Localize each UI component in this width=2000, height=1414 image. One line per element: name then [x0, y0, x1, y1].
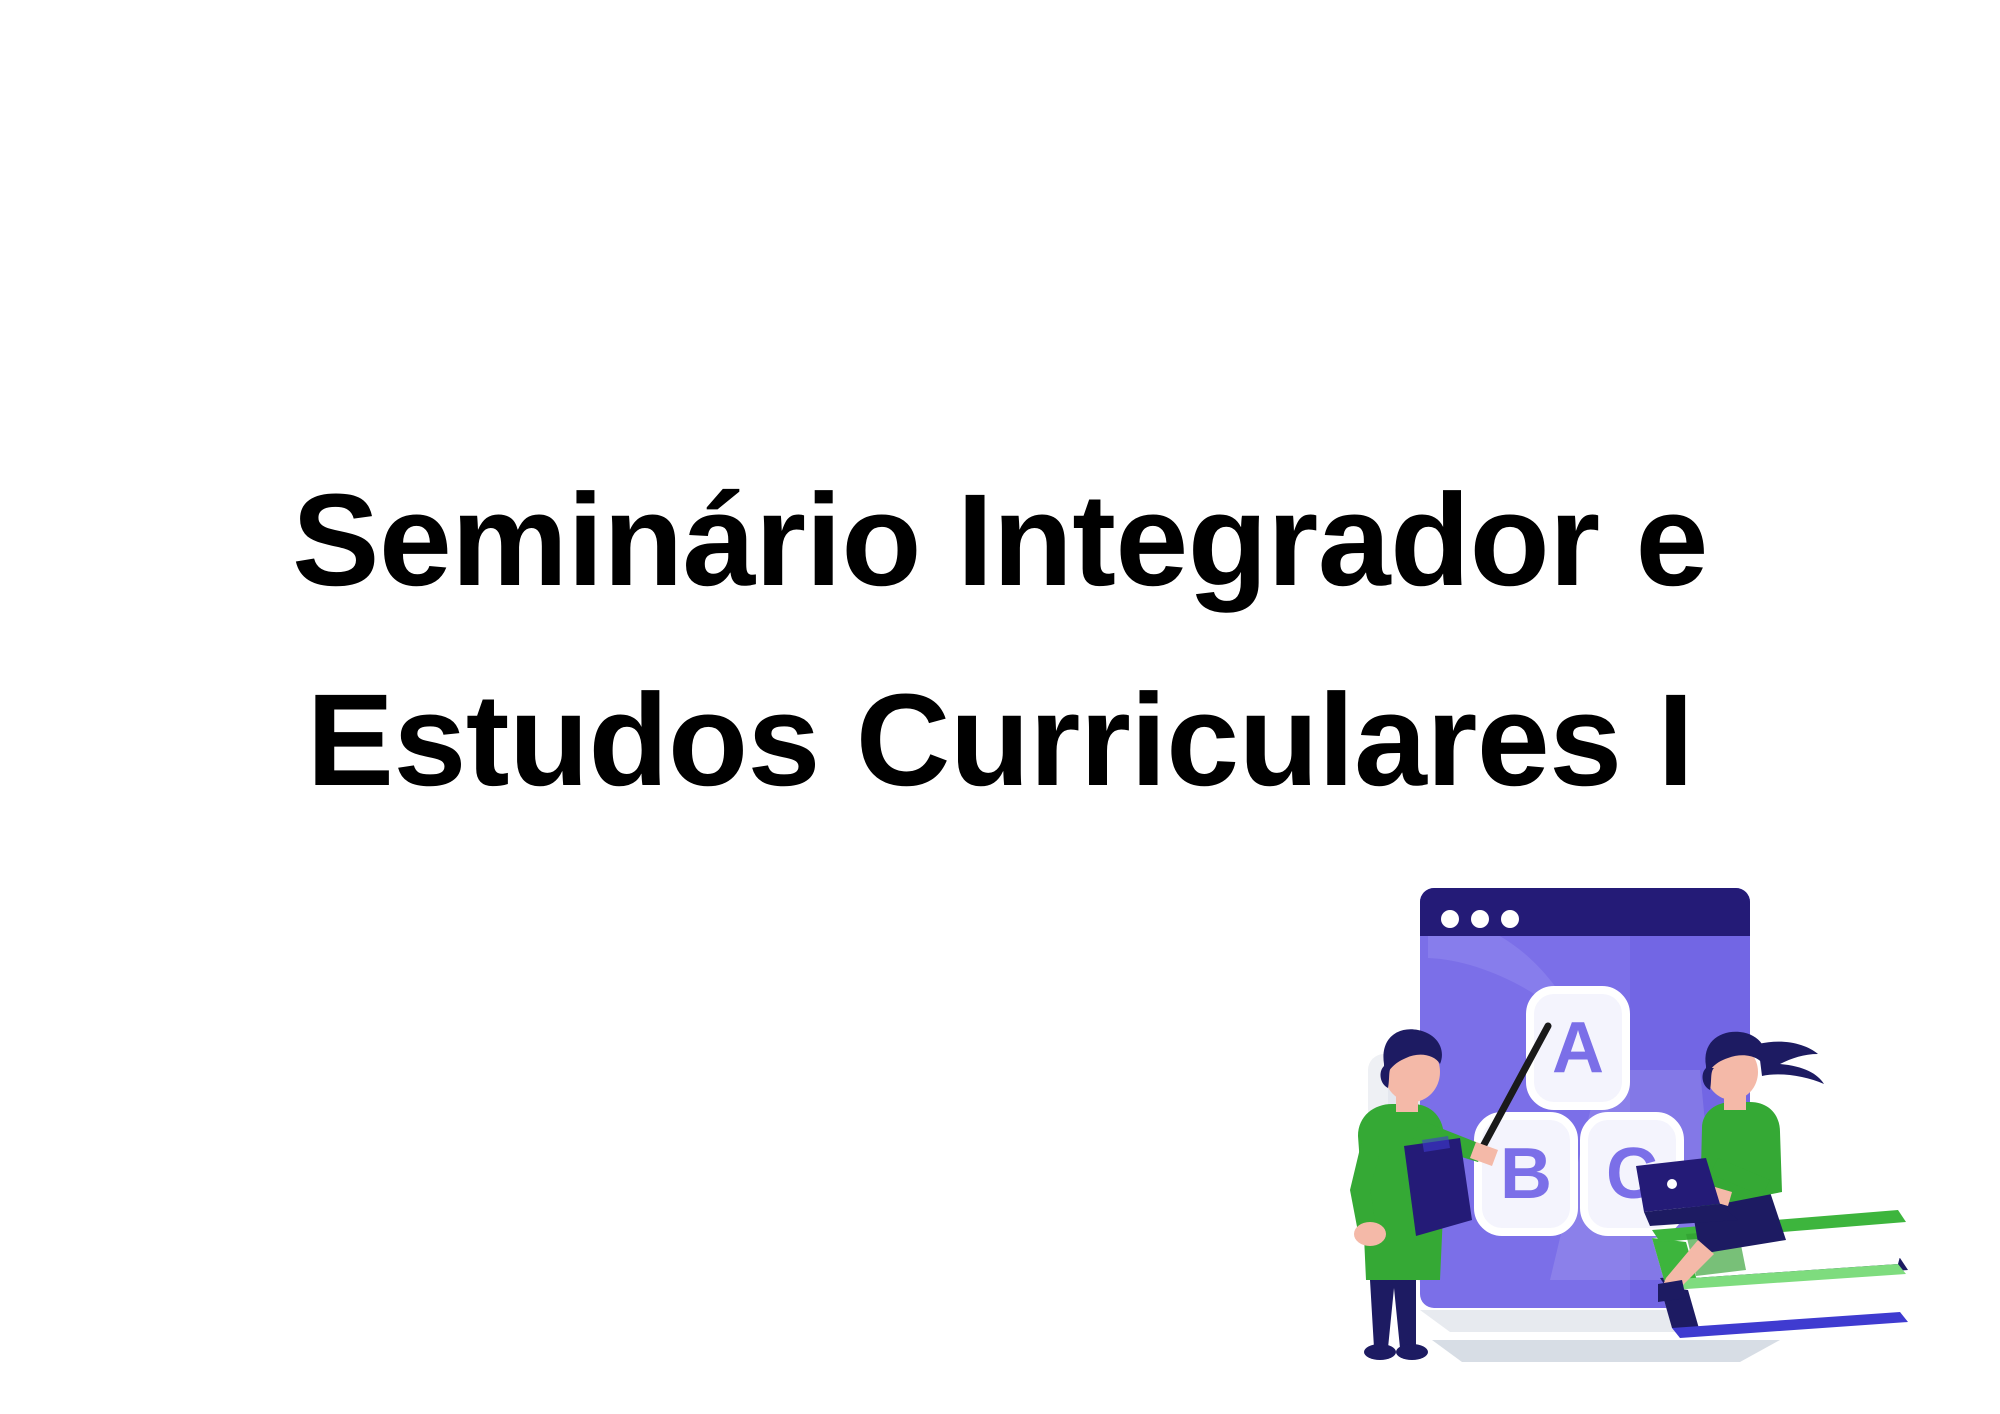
illustration-svg: A B C	[1300, 840, 2000, 1370]
title-line-1: Seminário Integrador e	[150, 440, 1850, 640]
teacher-hand-low	[1354, 1222, 1386, 1246]
window-dot-2	[1471, 910, 1489, 928]
block-a-letter: A	[1552, 1008, 1604, 1088]
teacher-legs	[1370, 1276, 1416, 1348]
online-education-illustration: A B C	[1300, 840, 2000, 1370]
page-title: Seminário Integrador e Estudos Curricula…	[150, 440, 1850, 840]
teacher-shoe-left	[1364, 1344, 1396, 1360]
block-b-letter: B	[1500, 1134, 1552, 1214]
teacher-shoe-right	[1396, 1344, 1428, 1360]
window-titlebar	[1420, 888, 1750, 936]
slide-canvas: Seminário Integrador e Estudos Curricula…	[0, 0, 2000, 1414]
clipboard-icon	[1404, 1136, 1472, 1236]
window-dot-1	[1441, 910, 1459, 928]
student-ponytail	[1758, 1042, 1824, 1084]
title-line-2: Estudos Curriculares I	[150, 640, 1850, 840]
window-dot-3	[1501, 910, 1519, 928]
block-a: A	[1530, 990, 1626, 1106]
